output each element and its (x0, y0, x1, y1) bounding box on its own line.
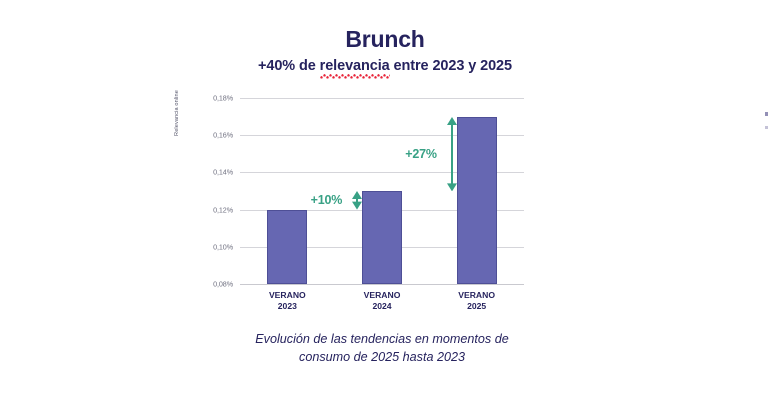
y-axis-tick-label: 0,08% (213, 280, 233, 289)
slide-subtitle: +40% de relevancia entre 2023 y 2025 (0, 58, 770, 79)
x-axis-label-line: VERANO (458, 290, 495, 301)
y-axis-title: Relevancia online (174, 68, 180, 158)
slide-title: Brunch (0, 26, 770, 53)
x-axis-label-line: 2023 (269, 301, 306, 312)
y-axis-tick-label: 0,18% (213, 94, 233, 103)
y-axis-tick-label: 0,12% (213, 205, 233, 214)
x-axis-label-3: VERANO2025 (458, 290, 495, 311)
annotation-label-10pct: +10% (311, 193, 343, 207)
bar-2[interactable] (362, 191, 402, 284)
y-axis-tick-label: 0,14% (213, 168, 233, 177)
subtitle-spellcheck-word: relevancia (320, 58, 390, 79)
annotation-label-27pct: +27% (405, 147, 437, 161)
y-axis-tick-label: 0,16% (213, 131, 233, 140)
edge-artifact-mark-secondary (765, 126, 768, 129)
annotation-arrow-27pct (446, 117, 459, 196)
gridline (240, 98, 524, 99)
x-axis-label-1: VERANO2023 (269, 290, 306, 311)
subtitle-text-after: entre 2023 y 2025 (390, 58, 512, 74)
subtitle-text-before: +40% de (258, 58, 320, 74)
slide-canvas: Brunch +40% de relevancia entre 2023 y 2… (0, 0, 770, 400)
edge-artifact-mark (765, 112, 768, 116)
x-axis-label-line: 2024 (364, 301, 401, 312)
x-axis-label-line: VERANO (269, 290, 306, 301)
bar-1[interactable] (267, 210, 307, 284)
x-axis-label-2: VERANO2024 (364, 290, 401, 311)
x-axis-label-line: VERANO (364, 290, 401, 301)
y-axis-tick-label: 0,10% (213, 242, 233, 251)
x-axis-label-line: 2025 (458, 301, 495, 312)
bar-3[interactable] (457, 117, 497, 284)
annotation-arrow-10pct (351, 191, 364, 215)
chart-caption: Evolución de las tendencias en momentos … (232, 330, 532, 367)
gridline (240, 284, 524, 285)
bar-chart: Relevancia online 0,08%0,10%0,12%0,14%0,… (176, 92, 528, 304)
plot-area: 0,08%0,10%0,12%0,14%0,16%0,18%VERANO2023… (240, 98, 524, 284)
